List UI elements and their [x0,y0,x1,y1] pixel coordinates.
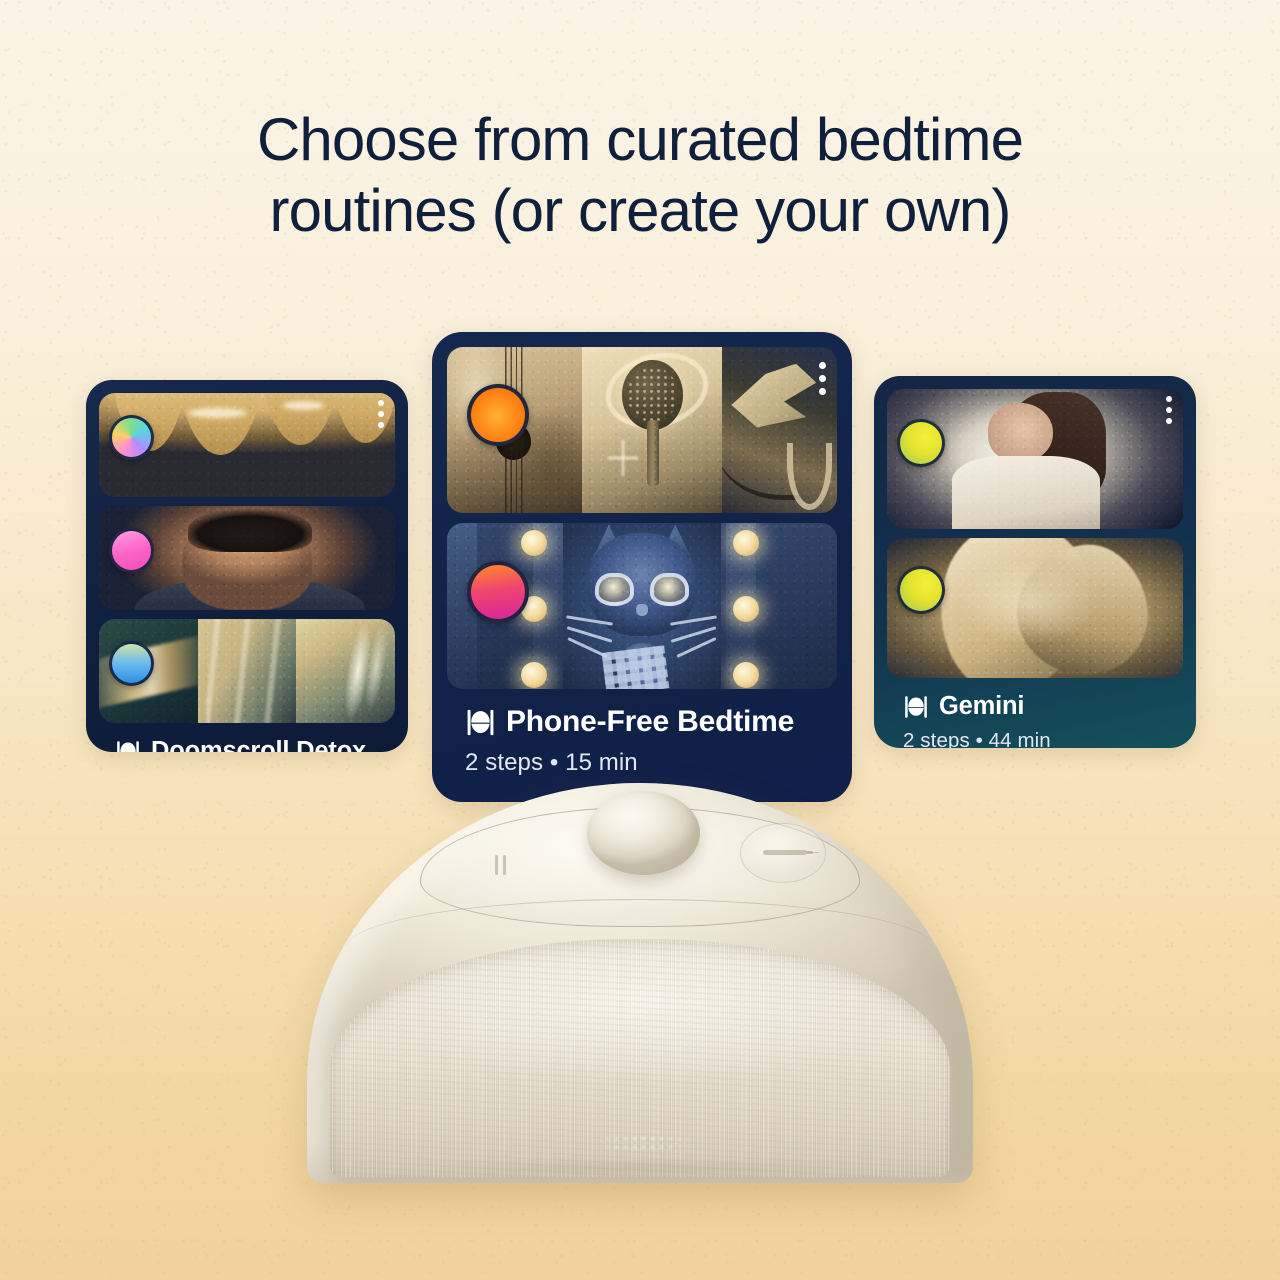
touch-pad-control[interactable] [740,823,827,883]
routine-name: Phone-Free Bedtime [506,705,794,739]
page-title: Choose from curated bedtime routines (or… [0,104,1280,247]
page-title-line-1: Choose from curated bedtime [0,104,1280,175]
routine-name: Doomscroll Detox [151,737,366,752]
kebab-menu-icon[interactable] [819,362,826,395]
device-shadow [334,1165,947,1187]
top-knob-button[interactable] [587,791,700,875]
routine-thumbnail-row-3[interactable] [99,619,395,723]
page-title-line-2: routines (or create your own) [0,175,1280,246]
routine-name: Gemini [939,692,1024,721]
routine-thumbnail-row-1[interactable] [99,393,395,497]
microphone-artwork [582,347,722,513]
routine-meta: 2 steps • 15 min [465,749,819,777]
routine-card-doomscroll-detox[interactable]: Doomscroll Detox 3 steps • 40 min [86,380,408,752]
routine-thumbnail-row-1[interactable] [447,347,837,513]
thumbnail-tile [563,523,721,689]
routine-card-phone-free-bedtime[interactable]: Phone-Free Bedtime 2 steps • 15 min [432,332,852,802]
routine-thumbnail-row-1[interactable] [887,389,1183,529]
routine-card-gemini[interactable]: Gemini 2 steps • 44 min [874,376,1196,748]
routine-badge-3 [109,641,154,686]
google-home-glyph-icon [903,694,929,720]
routine-title-row: Phone-Free Bedtime [465,705,819,739]
routine-card-footer: Gemini 2 steps • 44 min [887,678,1183,748]
routine-card-footer: Phone-Free Bedtime 2 steps • 15 min [447,689,837,777]
cat-with-sunglasses-artwork [563,523,721,689]
routine-thumbnail-row-2[interactable] [99,506,395,610]
routine-thumbnail-row-2[interactable] [447,523,837,689]
thumbnail-tile [198,619,297,723]
sand-band-artwork [198,619,297,723]
routine-card-footer: Doomscroll Detox 3 steps • 40 min [99,723,395,752]
thumbnail-tile [296,619,395,723]
thumbnail-tile [721,523,837,689]
pause-indicator-icon [487,855,515,875]
routine-badge-1 [897,419,945,467]
routine-badge-1 [109,415,154,460]
google-home-glyph-icon [115,739,141,753]
routine-badge-1 [467,384,529,446]
wave-artwork [296,619,395,723]
routine-thumbnail-row-2[interactable] [887,538,1183,678]
linen-speaker-grille [330,939,949,1177]
led-dot-display [603,1134,696,1151]
google-home-glyph-icon [465,707,496,738]
kebab-menu-icon[interactable] [1166,396,1172,424]
smart-speaker-device [307,783,973,1183]
thumbnail-tile [582,347,722,513]
routine-badge-2 [897,566,945,614]
speaker-shell [307,783,973,1183]
routine-title-row: Doomscroll Detox [115,737,379,752]
vanity-bulbs-artwork [721,523,837,689]
routine-badge-2 [467,561,529,623]
routine-meta: 2 steps • 44 min [903,729,1167,748]
routine-badge-2 [109,528,154,573]
kebab-menu-icon[interactable] [378,400,384,428]
routine-title-row: Gemini [903,692,1167,721]
